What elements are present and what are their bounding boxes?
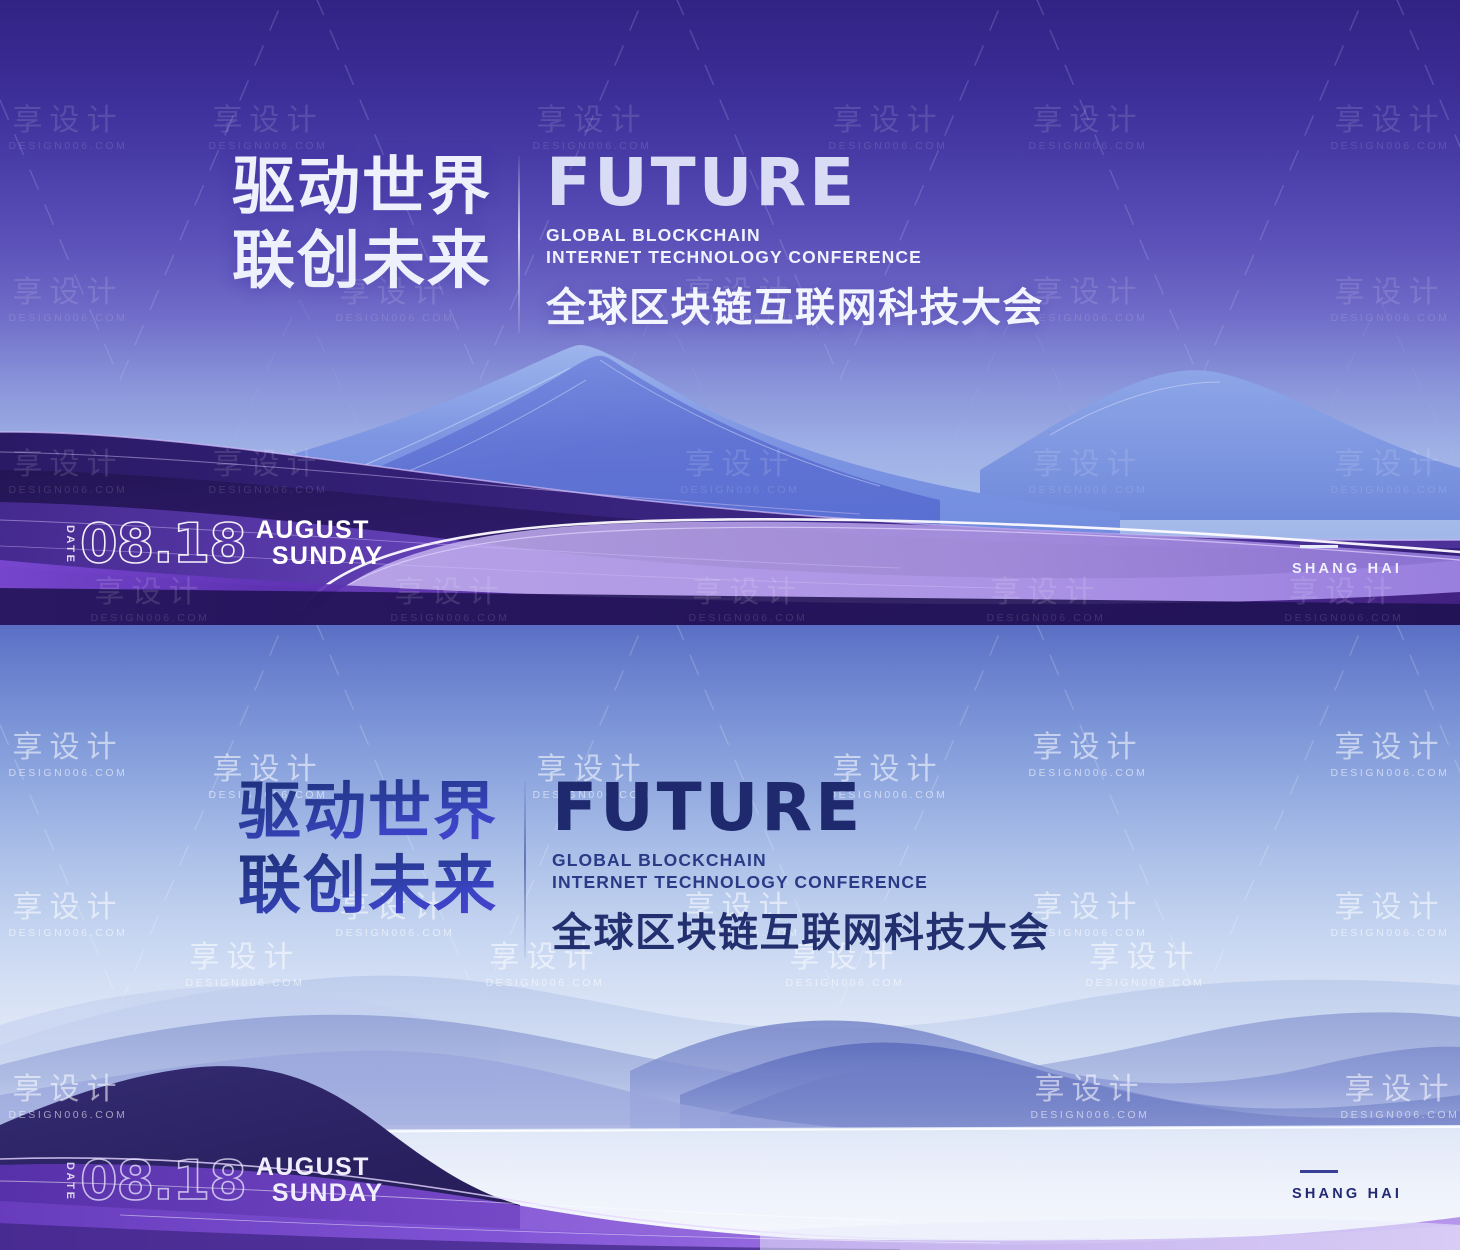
subtitle-en-line-2: INTERNET TECHNOLOGY CONFERENCE — [552, 871, 1050, 893]
date-number: 08.18 — [80, 518, 246, 569]
event-date-block: DATE 08.18 AUGUST SUNDAY — [64, 518, 383, 569]
headline-block: 驱动世界 联创未来 FUTURE GLOBAL BLOCKCHAIN INTER… — [238, 775, 1050, 958]
city-block: SHANG HAI — [1292, 1170, 1402, 1202]
headline-divider — [524, 781, 526, 958]
city-name: SHANG HAI — [1292, 1186, 1402, 1202]
date-weekday: SUNDAY — [272, 1181, 384, 1207]
headline-cn-line-1: 驱动世界 — [238, 775, 498, 849]
headline-block: 驱动世界 联创未来 FUTURE GLOBAL BLOCKCHAIN INTER… — [232, 150, 1044, 333]
subtitle-cn: 全球区块链互联网科技大会 — [552, 900, 1050, 958]
headline-divider — [518, 156, 520, 333]
city-name: SHANG HAI — [1292, 561, 1402, 577]
date-month: AUGUST — [256, 518, 384, 544]
date-label: DATE — [64, 1162, 76, 1202]
city-block: SHANG HAI — [1292, 545, 1402, 577]
date-weekday: SUNDAY — [272, 544, 384, 570]
date-weekday-block: AUGUST SUNDAY — [256, 518, 384, 569]
city-rule-line — [1300, 1170, 1338, 1173]
date-label: DATE — [64, 525, 76, 565]
headline-cn-line-2: 联创未来 — [238, 849, 498, 923]
subtitle-en-line-1: GLOBAL BLOCKCHAIN — [546, 224, 1044, 246]
poster-variant-dark: 享设计 DESIGN006.COM 享设计 DESIGN006.COM 享设计 … — [0, 0, 1460, 625]
subtitle-en-line-2: INTERNET TECHNOLOGY CONFERENCE — [546, 246, 1044, 268]
brand-wordmark: FUTURE — [552, 777, 1050, 840]
date-weekday-block: AUGUST SUNDAY — [256, 1155, 384, 1206]
brand-wordmark: FUTURE — [546, 152, 1044, 215]
headline-en-block: FUTURE GLOBAL BLOCKCHAIN INTERNET TECHNO… — [552, 775, 1050, 958]
city-rule-line — [1300, 545, 1338, 548]
poster-variant-light: 享设计 DESIGN006.COM 享设计 DESIGN006.COM 享设计 … — [0, 625, 1460, 1250]
headline-en-block: FUTURE GLOBAL BLOCKCHAIN INTERNET TECHNO… — [546, 150, 1044, 333]
subtitle-en-line-1: GLOBAL BLOCKCHAIN — [552, 849, 1050, 871]
headline-cn-title: 驱动世界 联创未来 — [238, 775, 498, 924]
event-date-block: DATE 08.18 AUGUST SUNDAY — [64, 1155, 383, 1206]
headline-cn-line-1: 驱动世界 — [232, 150, 492, 224]
headline-cn-line-2: 联创未来 — [232, 224, 492, 298]
headline-cn-title: 驱动世界 联创未来 — [232, 150, 492, 299]
subtitle-cn: 全球区块链互联网科技大会 — [546, 275, 1044, 333]
date-number: 08.18 — [80, 1155, 246, 1206]
date-month: AUGUST — [256, 1155, 384, 1181]
